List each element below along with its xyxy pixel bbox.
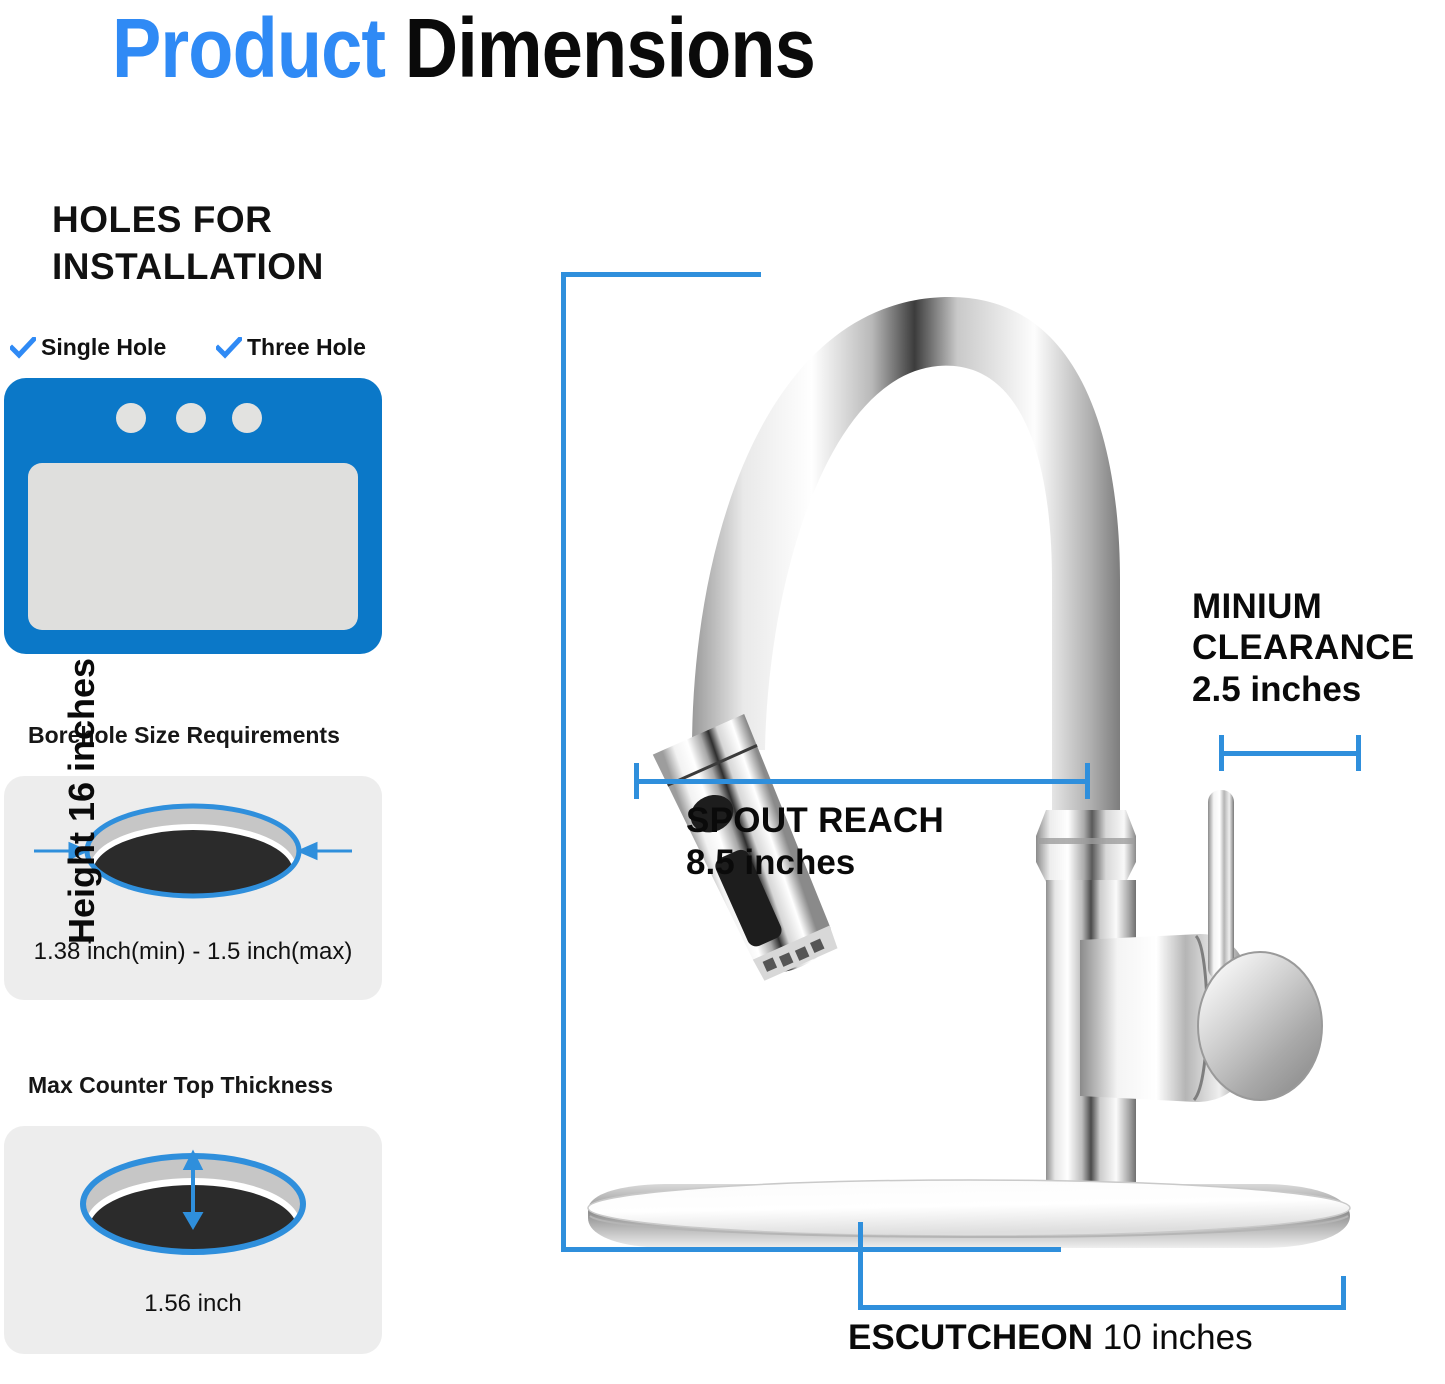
hole-options-group: Single Hole Three Hole: [10, 334, 402, 368]
clearance-callout: MINIUM CLEARANCE 2.5 inches: [1192, 586, 1414, 712]
borehole-size-caption: 1.38 inch(min) - 1.5 inch(max): [0, 938, 386, 966]
spout-reach-tick-right: [1085, 763, 1090, 799]
title-product: Product: [112, 1, 385, 95]
hole-dot-left: [116, 403, 146, 433]
hole-dot-right: [232, 403, 262, 433]
clearance-label-line2: CLEARANCE: [1192, 627, 1414, 668]
escutcheon-tick-left: [858, 1222, 863, 1310]
hole-option-single[interactable]: Single Hole: [10, 334, 166, 361]
hole-panel-inner-area: [28, 463, 358, 630]
escutcheon-callout: ESCUTCHEON 10 inches: [848, 1318, 1253, 1358]
title-dimensions: Dimensions: [405, 1, 815, 95]
holes-for-installation-heading: HOLES FOR INSTALLATION: [52, 196, 432, 290]
escutcheon-label: ESCUTCHEON: [848, 1318, 1093, 1357]
clearance-label-line1: MINIUM: [1192, 586, 1414, 627]
spout-reach-label: SPOUT REACH: [686, 800, 944, 841]
clearance-dimension-line: [1219, 751, 1361, 756]
thickness-diagram: [4, 1126, 382, 1354]
clearance-tick-right: [1356, 735, 1361, 771]
max-counter-top-thickness-heading: Max Counter Top Thickness: [28, 1072, 333, 1099]
check-icon: [216, 337, 242, 359]
height-dimension-line: [561, 272, 566, 1252]
height-dimension-label: Height 16 inches: [61, 641, 103, 961]
page-title: Product Dimensions: [112, 0, 1256, 100]
check-icon: [10, 337, 36, 359]
thickness-illustration-card: [4, 1126, 382, 1354]
spout-reach-dimension-line: [634, 779, 1090, 784]
escutcheon-value: 10 inches: [1103, 1318, 1253, 1357]
spout-reach-callout: SPOUT REACH 8.5 inches: [686, 800, 944, 885]
clearance-tick-left: [1219, 735, 1224, 771]
hole-option-three-label: Three Hole: [247, 334, 366, 361]
escutcheon-dimension-line: [858, 1305, 1346, 1310]
clearance-value: 2.5 inches: [1192, 668, 1414, 712]
hole-dot-center: [176, 403, 206, 433]
faucet-collar: [1036, 810, 1136, 882]
height-dimension-tick-top: [561, 272, 761, 277]
hole-option-three[interactable]: Three Hole: [216, 334, 366, 361]
spout-reach-tick-left: [634, 763, 639, 799]
hole-option-single-label: Single Hole: [41, 334, 166, 361]
height-dimension-tick-bottom: [561, 1247, 1061, 1252]
escutcheon-plate: [588, 1180, 1350, 1248]
faucet-illustration: [560, 250, 1420, 1320]
escutcheon-tick-right: [1341, 1276, 1346, 1310]
handle-lever: [1208, 790, 1234, 980]
thickness-caption: 1.56 inch: [0, 1290, 386, 1318]
spout-reach-value: 8.5 inches: [686, 841, 944, 885]
